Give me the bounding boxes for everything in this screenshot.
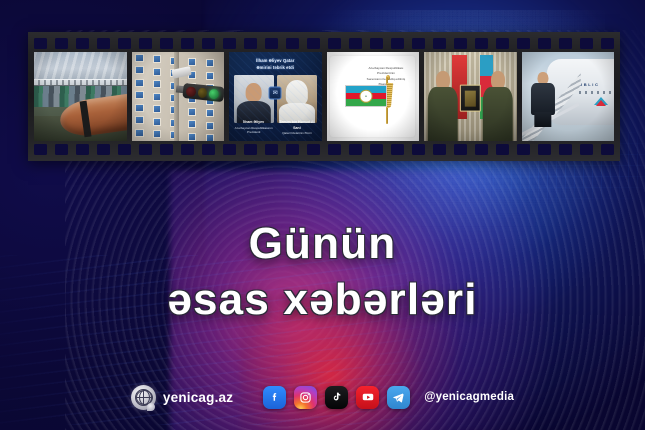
- filmstrip-frames: 01 02: [34, 52, 614, 141]
- perforation: [475, 144, 488, 155]
- perforation: [559, 38, 572, 49]
- perforation: [328, 38, 341, 49]
- perforation: [412, 144, 425, 155]
- building-window: [206, 134, 214, 141]
- building-window: [206, 122, 214, 130]
- aircraft-livery-text: UBLIC: [579, 82, 599, 87]
- building-window: [135, 66, 143, 74]
- perforation: [76, 144, 89, 155]
- perforation: [55, 144, 68, 155]
- building-window: [135, 129, 143, 137]
- perforation: [517, 144, 530, 155]
- perforation: [265, 144, 278, 155]
- caption-left: İlham Əliyev Azərbaycan Respublikasının …: [234, 120, 274, 135]
- perforation: [433, 144, 446, 155]
- perforation: [433, 38, 446, 49]
- perforation: [244, 144, 257, 155]
- perforation: [475, 38, 488, 49]
- perforation: [139, 38, 152, 49]
- traffic-light-photo: [132, 52, 225, 141]
- instagram-icon[interactable]: [294, 386, 317, 409]
- perforation: [244, 38, 257, 49]
- building-window: [188, 108, 196, 116]
- flag-emblem: ★: [365, 95, 367, 98]
- perforation: [454, 38, 467, 49]
- headline-line-2: əsas xəbərləri: [0, 272, 645, 328]
- meeting-card-title: İlham Əliyev Qatar Əmirini təbrik etdi: [233, 58, 318, 71]
- poster-canvas: 01 02: [0, 0, 645, 430]
- tiktok-icon[interactable]: [325, 386, 348, 409]
- film-frame-2[interactable]: 02: [132, 52, 225, 141]
- headline-line-1: Günün: [0, 216, 645, 272]
- building-window: [135, 54, 143, 62]
- building-window: [135, 79, 143, 87]
- perforation: [286, 144, 299, 155]
- perforation: [265, 38, 278, 49]
- perforation: [307, 38, 320, 49]
- perforation: [601, 144, 614, 155]
- perforation: [370, 38, 383, 49]
- perforation: [118, 38, 131, 49]
- perforation: [412, 38, 425, 49]
- perforation: [580, 144, 593, 155]
- perforation: [349, 38, 362, 49]
- social-icons: @yenicagmedia: [263, 386, 514, 409]
- perforation: [202, 38, 215, 49]
- perforation: [181, 144, 194, 155]
- perforation: [496, 144, 509, 155]
- portrait-right: [277, 75, 317, 123]
- building-window: [135, 91, 143, 99]
- caption-right-name: Temim bin Həməd Al Sani: [277, 120, 317, 131]
- building-window: [135, 116, 143, 124]
- perforation: [538, 38, 551, 49]
- officer-right: [482, 68, 513, 141]
- perforation: [580, 38, 593, 49]
- railway-photo: [34, 52, 127, 141]
- social-handle: @yenicagmedia: [424, 391, 514, 403]
- award-plaque: [460, 85, 480, 112]
- perforation: [601, 38, 614, 49]
- perforation: [139, 144, 152, 155]
- perforation: [97, 144, 110, 155]
- perforation: [391, 38, 404, 49]
- perforation: [328, 144, 341, 155]
- building-window: [153, 68, 161, 76]
- perforation: [307, 144, 320, 155]
- perforation: [34, 38, 47, 49]
- perforation: [538, 144, 551, 155]
- caption-right: Temim bin Həməd Al Sani Qatar Dövlətinin…: [277, 120, 317, 135]
- building-window: [206, 72, 214, 80]
- building-window: [153, 105, 161, 113]
- telegram-icon[interactable]: [387, 386, 410, 409]
- poster-headline: Günün əsas xəbərləri: [0, 216, 645, 329]
- perforation: [55, 38, 68, 49]
- perforation: [160, 38, 173, 49]
- meeting-card-photo: İlham Əliyev Qatar Əmirini təbrik etdi ✉: [229, 52, 322, 141]
- caption-right-role: Qatar Dövlətinin Əmiri: [282, 131, 311, 135]
- building-window: [206, 59, 214, 67]
- perforation: [76, 38, 89, 49]
- perforation: [286, 38, 299, 49]
- meeting-card-title-line2: Əmirini təbrik etdi: [256, 65, 294, 70]
- filmstrip-perforations-bottom: [28, 142, 620, 157]
- perforation: [160, 144, 173, 155]
- caption-left-name: İlham Əliyev: [234, 120, 274, 125]
- brand-block[interactable]: yenicag.az: [131, 385, 233, 410]
- perforation: [34, 144, 47, 155]
- portrait-left: [234, 75, 274, 123]
- brand-text: yenicag.az: [163, 390, 233, 405]
- perforation: [97, 38, 110, 49]
- azerbaijan-flag-icon: ★: [345, 85, 388, 107]
- azerbaijan-flag-photo: Azərbaycan Respublikası Prezidentinin Sə…: [327, 52, 420, 141]
- perforation: [202, 144, 215, 155]
- building-window: [153, 93, 161, 101]
- perforation: [517, 38, 530, 49]
- building-window: [188, 120, 196, 128]
- film-frame-5[interactable]: 05: [424, 52, 517, 141]
- perforation: [370, 144, 383, 155]
- youtube-icon[interactable]: [356, 386, 379, 409]
- perforation: [223, 38, 236, 49]
- officer-left: [428, 68, 459, 141]
- building-window: [153, 118, 161, 126]
- facebook-icon[interactable]: [263, 386, 286, 409]
- person-on-stairs: [531, 72, 555, 127]
- film-frame-6[interactable]: 06 UBLIC: [522, 52, 615, 141]
- perforation: [559, 144, 572, 155]
- perforation: [454, 144, 467, 155]
- building-window: [153, 80, 161, 88]
- perforation: [391, 144, 404, 155]
- caption-left-role: Azərbaycan Respublikasının Prezidenti: [235, 126, 273, 135]
- perforation: [181, 38, 194, 49]
- building-window: [153, 55, 161, 63]
- meeting-card-title-line1: İlham Əliyev Qatar: [256, 58, 294, 63]
- filmstrip: 01 02: [28, 32, 620, 161]
- building-window: [206, 109, 214, 117]
- perforation: [496, 38, 509, 49]
- perforation: [118, 144, 131, 155]
- perforation: [349, 144, 362, 155]
- perforation: [223, 144, 236, 155]
- film-frame-4[interactable]: 04 Azərbaycan Respublikası Prezidentinin…: [327, 52, 420, 141]
- plane-stairs-photo: UBLIC: [522, 52, 615, 141]
- film-frame-1[interactable]: 01: [34, 52, 127, 141]
- envelope-icon: ✉: [269, 86, 282, 99]
- military-ceremony-photo: [424, 52, 517, 141]
- building-window: [188, 133, 196, 141]
- building-window: [188, 58, 196, 66]
- building-window: [135, 104, 143, 112]
- footer-bar: yenicag.az @yenicagmedia: [0, 380, 645, 414]
- globe-icon: [131, 385, 156, 410]
- filmstrip-perforations-top: [28, 36, 620, 51]
- building-window: [153, 130, 161, 138]
- film-frame-3[interactable]: 03 İlham Əliyev Qatar Əmirini təbrik etd…: [229, 52, 322, 141]
- decree-text-line1: Azərbaycan Respublikası Prezidentinin: [368, 66, 403, 75]
